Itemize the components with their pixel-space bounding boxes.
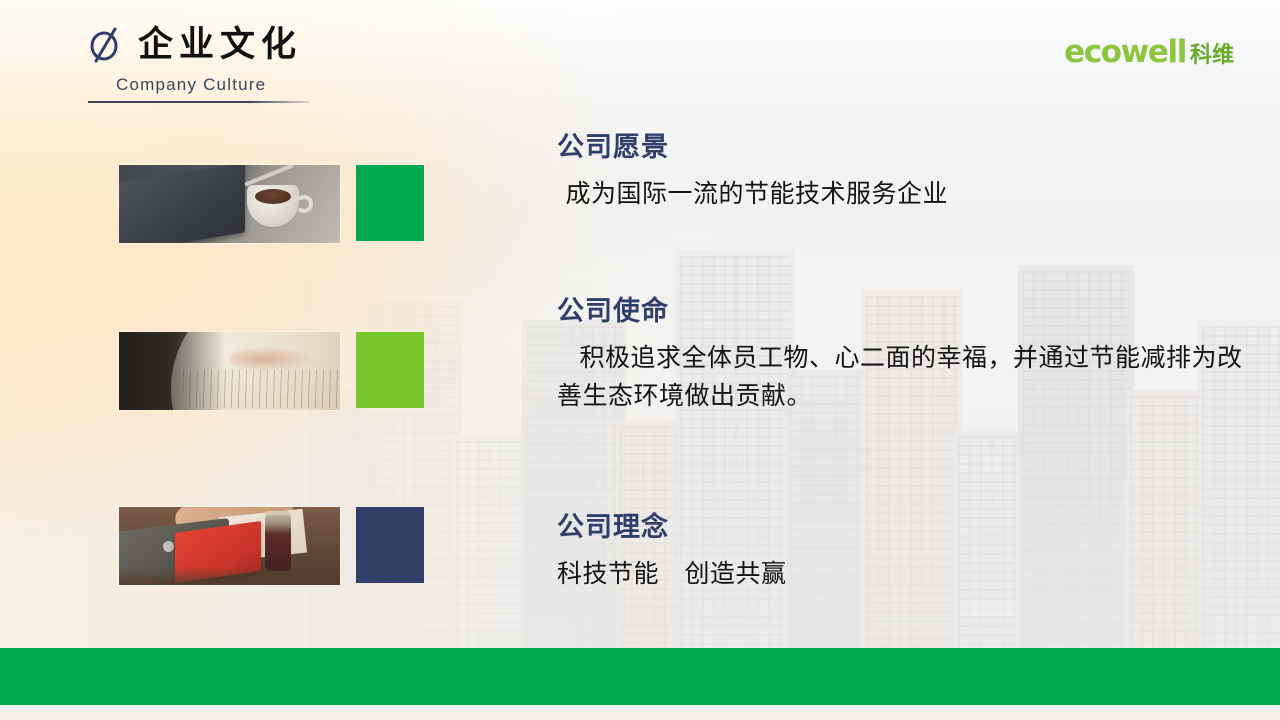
slashed-circle-icon [88, 26, 122, 64]
notebook-coffee-photo [119, 165, 340, 243]
light-green-swatch [356, 332, 424, 408]
mission-body: 积极追求全体员工物、心二面的幸福，并通过节能减排为改善生态环境做出贡献。 [557, 339, 1257, 415]
header-underline [88, 101, 310, 103]
ecowell-logo: ecowell 科维 [1064, 37, 1234, 68]
media-row [119, 507, 424, 585]
vision-title: 公司愿景 [557, 133, 948, 163]
vision-body: 成为国际一流的节能技术服务企业 [557, 175, 948, 213]
philosophy-body: 科技节能 创造共赢 [557, 555, 787, 593]
vision-block: 公司愿景 成为国际一流的节能技术服务企业 [557, 133, 948, 213]
slide-header: 企业文化 Company Culture [88, 26, 310, 103]
logo-chinese-name: 科维 [1190, 45, 1234, 67]
globe-map-photo [119, 332, 340, 410]
media-row [119, 165, 424, 243]
logo-wordmark: ecowell [1064, 37, 1186, 68]
footer-cream-strip [0, 705, 1280, 720]
mission-title: 公司使命 [557, 297, 1257, 327]
philosophy-title: 公司理念 [557, 513, 787, 543]
philosophy-block: 公司理念 科技节能 创造共赢 [557, 513, 787, 593]
media-row [119, 332, 424, 410]
mission-block: 公司使命 积极追求全体员工物、心二面的幸福，并通过节能减排为改善生态环境做出贡献… [557, 297, 1257, 415]
slide-canvas: 企业文化 Company Culture ecowell 科维 [0, 0, 1280, 720]
page-title: 企业文化 [138, 28, 302, 63]
laptop-notebook-photo [119, 507, 340, 585]
navy-swatch [356, 507, 424, 583]
page-subtitle: Company Culture [116, 75, 310, 95]
footer-green-bar [0, 648, 1280, 705]
green-swatch [356, 165, 424, 241]
